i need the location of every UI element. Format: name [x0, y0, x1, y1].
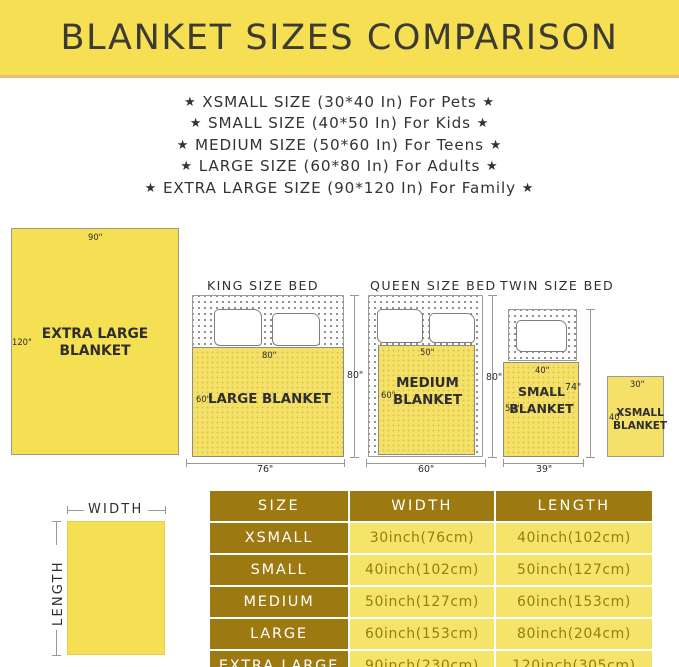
cell-width: 40inch(102cm) [350, 555, 494, 585]
cell-length: 80inch(204cm) [496, 619, 652, 649]
queen-height-tick-bottom [488, 457, 497, 458]
large-blanket-width-label: 80" [262, 350, 277, 360]
medium-blanket-label-line2: BLANKET [393, 393, 462, 408]
twin-height-dimension-line [590, 309, 591, 457]
table-row: XSMALL 30inch(76cm) 40inch(102cm) [210, 523, 652, 553]
cell-size: XSMALL [210, 523, 348, 553]
king-bed-height-label: 80" [347, 370, 363, 381]
table-row: EXTRA LARGE 90inch(230cm) 120inch(305cm) [210, 651, 652, 667]
cell-length: 40inch(102cm) [496, 523, 652, 553]
xsmall-width-label: 30" [630, 379, 645, 389]
table-header-length: LENGTH [496, 491, 652, 521]
queen-bed-title: QUEEN SIZE BED [370, 278, 497, 293]
queen-bed-height-label: 80" [486, 372, 502, 383]
small-blanket-label-line2: BLANKET [509, 401, 573, 416]
key-width-tick-left [67, 506, 68, 514]
key-length-tick-top [52, 521, 61, 522]
table-row: MEDIUM 50inch(127cm) 60inch(153cm) [210, 587, 652, 617]
twin-height-tick-bottom [586, 457, 595, 458]
queen-bed-width-label: 60" [418, 464, 434, 475]
key-width-tick-right [165, 506, 166, 514]
cell-size: MEDIUM [210, 587, 348, 617]
extra-large-blanket-label: EXTRA LARGE BLANKET [11, 326, 179, 360]
twin-bed-title: TWIN SIZE BED [500, 278, 614, 293]
king-pillow-right [272, 313, 320, 346]
table-header-row: SIZE WIDTH LENGTH [210, 491, 652, 521]
medium-blanket-label-line1: MEDIUM [396, 376, 459, 391]
cell-size: SMALL [210, 555, 348, 585]
small-blanket-width-label: 40" [535, 365, 550, 375]
table-header-size: SIZE [210, 491, 348, 521]
key-blanket-shape [67, 521, 165, 655]
king-width-tick-left [186, 459, 187, 467]
cell-width: 50inch(127cm) [350, 587, 494, 617]
king-height-tick-bottom [350, 457, 359, 458]
twin-width-tick-left [503, 459, 504, 467]
cell-length: 120inch(305cm) [496, 651, 652, 667]
key-length-tick-bottom [52, 655, 61, 656]
xsmall-blanket-label-line1: XSMALL [616, 407, 664, 419]
king-bed-width-label: 76" [257, 464, 273, 475]
key-width-label: WIDTH [88, 502, 143, 517]
queen-pillow-right [429, 313, 475, 343]
twin-height-tick-top [586, 309, 595, 310]
cell-width: 60inch(153cm) [350, 619, 494, 649]
king-pillow-left [214, 309, 262, 346]
queen-height-tick-top [488, 295, 497, 296]
xsmall-blanket-label-line2: BLANKET [613, 420, 667, 432]
infographic-root: BLANKET SIZES COMPARISON ★ XSMALL SIZE (… [0, 0, 679, 667]
size-table: SIZE WIDTH LENGTH XSMALL 30inch(76cm) 40… [208, 489, 654, 667]
twin-bed-width-label: 39" [536, 464, 552, 475]
key-length-line-bottom [56, 630, 57, 655]
king-bed-title: KING SIZE BED [207, 278, 319, 293]
twin-width-tick-right [583, 459, 584, 467]
twin-bed-height-label: 74" [565, 382, 581, 393]
medium-blanket-label: MEDIUM BLANKET [385, 375, 470, 409]
extra-large-blanket-label-line2: BLANKET [59, 343, 130, 359]
key-length-line-top [56, 521, 57, 545]
medium-blanket-width-label: 50" [420, 347, 435, 357]
cell-size: EXTRA LARGE [210, 651, 348, 667]
key-width-line-right [148, 510, 165, 511]
extra-large-width-label: 90" [88, 232, 103, 242]
twin-pillow [516, 320, 567, 352]
xsmall-blanket-label: XSMALL BLANKET [613, 407, 667, 433]
cell-width: 30inch(76cm) [350, 523, 494, 553]
cell-length: 60inch(153cm) [496, 587, 652, 617]
table-header-width: WIDTH [350, 491, 494, 521]
table-row: SMALL 40inch(102cm) 50inch(127cm) [210, 555, 652, 585]
king-width-tick-right [344, 459, 345, 467]
queen-width-tick-right [485, 459, 486, 467]
extra-large-blanket-label-line1: EXTRA LARGE [42, 326, 148, 342]
cell-length: 50inch(127cm) [496, 555, 652, 585]
queen-width-tick-left [366, 459, 367, 467]
large-blanket-label: LARGE BLANKET [208, 391, 348, 408]
king-height-tick-top [350, 295, 359, 296]
small-blanket-label-line1: SMALL [518, 384, 565, 399]
key-length-label: LENGTH [51, 560, 66, 626]
key-width-line-left [67, 510, 84, 511]
table-row: LARGE 60inch(153cm) 80inch(204cm) [210, 619, 652, 649]
cell-size: LARGE [210, 619, 348, 649]
queen-pillow-left [377, 309, 423, 343]
cell-width: 90inch(230cm) [350, 651, 494, 667]
